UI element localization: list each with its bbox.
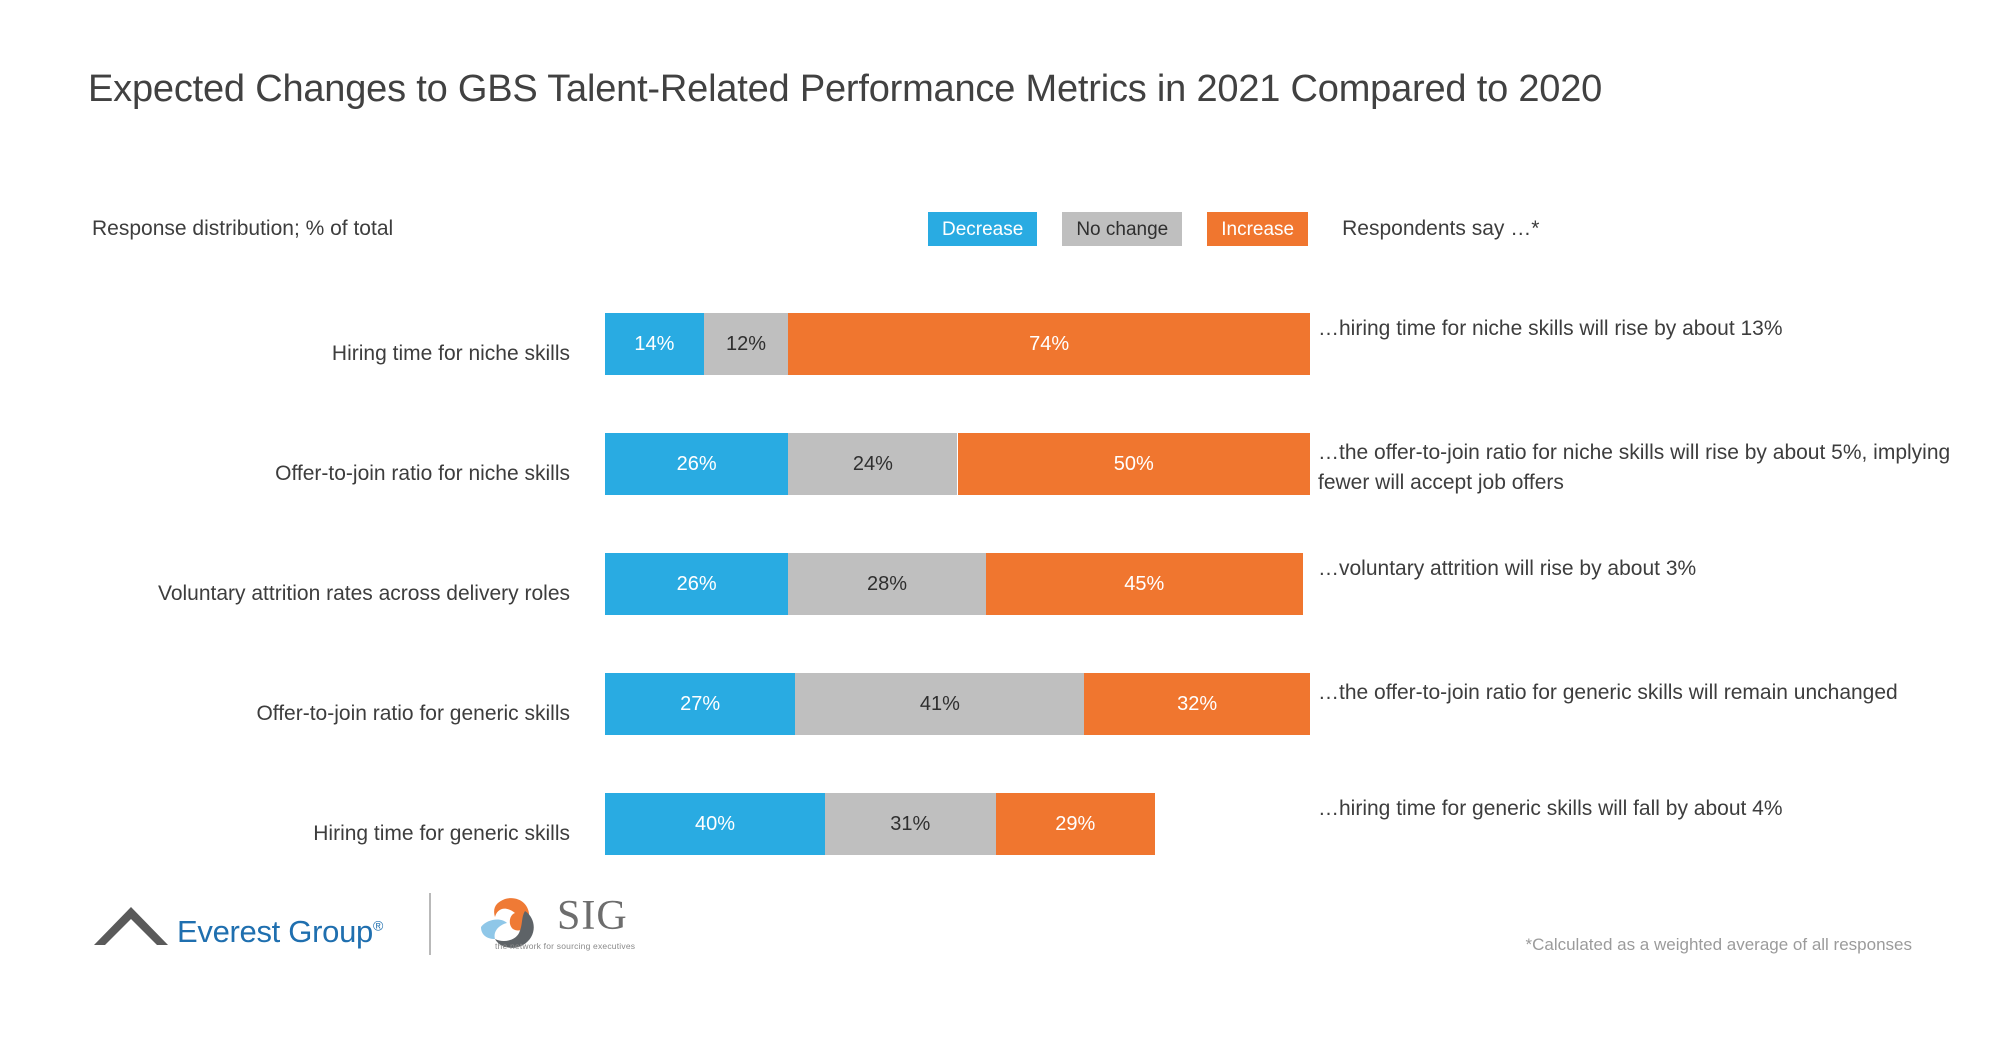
everest-group-logo: Everest Group® (92, 901, 383, 947)
bar-track: 26% 28% 45% (605, 553, 1310, 615)
legend-item-decrease[interactable]: Decrease (928, 212, 1037, 246)
respondents-say-label: Respondents say …* (1342, 217, 1539, 241)
bar-segment-no-change[interactable]: 31% (825, 793, 996, 855)
bar-segment-increase[interactable]: 32% (1084, 673, 1310, 735)
sig-tagline: the network for sourcing executives (495, 941, 635, 951)
footer-logos: Everest Group® SIG the network for sourc… (92, 893, 635, 955)
chart-legend: Decrease No change Increase Respondents … (928, 212, 1539, 246)
bar-segment-decrease[interactable]: 26% (605, 553, 788, 615)
footnote: *Calculated as a weighted average of all… (1525, 935, 1912, 955)
bar-segment-no-change[interactable]: 12% (704, 313, 789, 375)
chart-row: Hiring time for niche skills 14% 12% 74%… (0, 296, 2000, 416)
chart-row: Offer-to-join ratio for generic skills 2… (0, 656, 2000, 776)
legend-item-no-change[interactable]: No change (1062, 212, 1182, 246)
bar-segment-increase[interactable]: 29% (996, 793, 1155, 855)
row-annotation: …the offer-to-join ratio for niche skill… (1318, 438, 1958, 498)
row-annotation: …the offer-to-join ratio for generic ski… (1318, 678, 1958, 708)
page-title: Expected Changes to GBS Talent-Related P… (88, 68, 1928, 111)
row-label: Hiring time for generic skills (0, 822, 570, 846)
chart-row: Voluntary attrition rates across deliver… (0, 536, 2000, 656)
bar-segment-decrease[interactable]: 14% (605, 313, 704, 375)
legend-item-increase[interactable]: Increase (1207, 212, 1308, 246)
row-label: Voluntary attrition rates across deliver… (0, 582, 570, 606)
bar-segment-increase[interactable]: 45% (986, 553, 1303, 615)
row-label: Hiring time for niche skills (0, 342, 570, 366)
bar-track: 26% 24% 50% (605, 433, 1310, 495)
bar-track: 14% 12% 74% (605, 313, 1310, 375)
row-label: Offer-to-join ratio for generic skills (0, 702, 570, 726)
everest-group-text: Everest Group (177, 914, 373, 949)
bar-segment-no-change[interactable]: 24% (788, 433, 957, 495)
stacked-bar-chart: Hiring time for niche skills 14% 12% 74%… (0, 296, 2000, 896)
sig-logo: SIG the network for sourcing executives (475, 893, 635, 955)
footer-divider (429, 893, 431, 955)
bar-segment-increase[interactable]: 50% (958, 433, 1311, 495)
chart-subtitle: Response distribution; % of total (92, 217, 393, 241)
row-annotation: …hiring time for generic skills will fal… (1318, 794, 1958, 824)
everest-group-wordmark: Everest Group® (177, 916, 383, 947)
bar-segment-no-change[interactable]: 41% (795, 673, 1084, 735)
sig-wordmark: SIG (557, 897, 635, 937)
row-annotation: …hiring time for niche skills will rise … (1318, 314, 1958, 344)
chart-row: Hiring time for generic skills 40% 31% 2… (0, 776, 2000, 896)
registered-mark: ® (373, 918, 383, 934)
chart-row: Offer-to-join ratio for niche skills 26%… (0, 416, 2000, 536)
bar-segment-increase[interactable]: 74% (788, 313, 1310, 375)
bar-segment-no-change[interactable]: 28% (788, 553, 985, 615)
everest-chevron-icon (92, 901, 170, 947)
sig-text-block: SIG the network for sourcing executives (557, 897, 635, 951)
row-annotation: …voluntary attrition will rise by about … (1318, 554, 1958, 584)
bar-track: 27% 41% 32% (605, 673, 1310, 735)
bar-track: 40% 31% 29% (605, 793, 1310, 855)
bar-segment-decrease[interactable]: 40% (605, 793, 825, 855)
bar-segment-decrease[interactable]: 26% (605, 433, 788, 495)
row-label: Offer-to-join ratio for niche skills (0, 462, 570, 486)
bar-segment-decrease[interactable]: 27% (605, 673, 795, 735)
